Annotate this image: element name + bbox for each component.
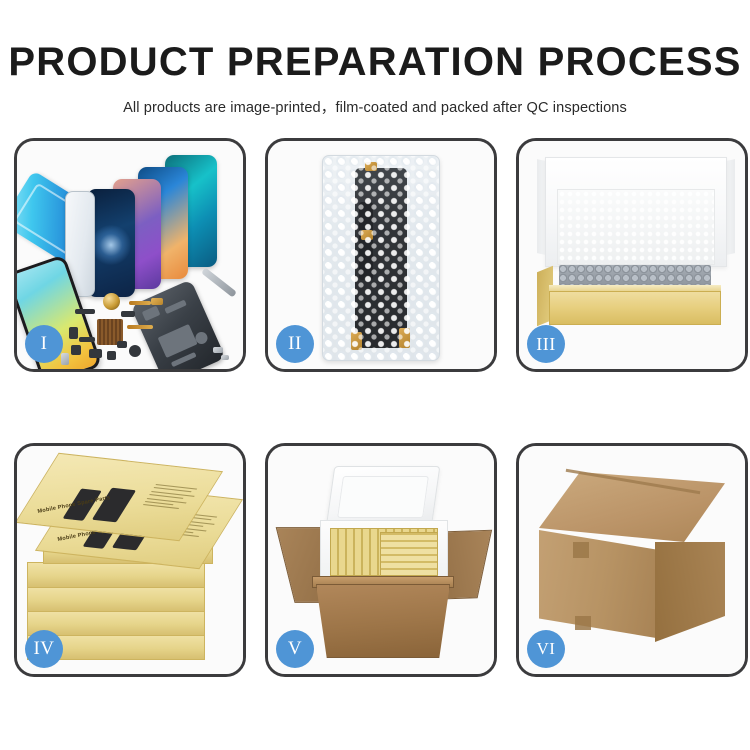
step-panel-5: V	[265, 443, 497, 677]
flex-cable-part-1	[129, 301, 151, 305]
step-badge-5: V	[276, 630, 314, 668]
step-badge-1: I	[25, 325, 63, 363]
step-panel-2: II	[265, 138, 497, 372]
product-preparation-infographic: PRODUCT PREPARATION PROCESS All products…	[0, 0, 750, 750]
header: PRODUCT PREPARATION PROCESS All products…	[0, 0, 750, 117]
packing-tape-bottom	[575, 616, 591, 630]
kraft-box-front	[549, 291, 721, 325]
step-panel-1: I	[14, 138, 246, 372]
sim-tray-part	[61, 353, 69, 365]
vibrator-part	[129, 345, 141, 357]
kraft-boxes-inside-b	[380, 532, 438, 576]
stacked-box-side-3	[27, 586, 205, 612]
white-foam-sheet-icon	[557, 189, 715, 265]
outer-carton-front	[316, 584, 450, 658]
adhesive-tab-4	[399, 328, 410, 348]
step-panel-6: VI	[516, 443, 748, 677]
box-spec-lines-1	[141, 484, 201, 513]
small-part-d	[71, 345, 81, 355]
lcd-assembly-inside	[355, 168, 407, 348]
page-subtitle: All products are image-printed，film-coat…	[0, 96, 750, 117]
small-part-g	[117, 341, 127, 348]
packing-tape-top	[573, 542, 589, 558]
screw-part-1	[213, 347, 223, 353]
connector-part	[151, 298, 163, 305]
small-part-a	[121, 311, 135, 317]
adhesive-tab-1	[365, 162, 377, 171]
step-badge-3: III	[527, 325, 565, 363]
page-title: PRODUCT PREPARATION PROCESS	[0, 42, 750, 82]
step-badge-4: IV	[25, 630, 63, 668]
step-badge-6: VI	[527, 630, 565, 668]
step-panel-4: Mobile Phone Spare Parts Mobile Phone Sp…	[14, 443, 246, 677]
foam-lid-icon	[326, 466, 441, 528]
bubble-wrap-sleeve-icon	[322, 155, 440, 361]
sealed-carton-side	[655, 542, 725, 642]
small-part-e	[89, 349, 102, 358]
camera-lens-part	[103, 293, 120, 310]
flex-cable-part-2	[127, 325, 153, 329]
tweezers-icon	[201, 267, 237, 297]
small-part-f	[107, 351, 116, 360]
small-part-c	[79, 337, 95, 342]
step-badge-2: II	[276, 325, 314, 363]
adhesive-tab-3	[351, 332, 362, 350]
small-part-b	[69, 327, 78, 339]
speaker-part	[75, 309, 95, 314]
screw-part-2	[221, 355, 229, 360]
adhesive-tab-2	[361, 230, 373, 240]
steps-grid: I II	[0, 138, 750, 690]
step-panel-3: III	[516, 138, 748, 372]
sealed-carton-front	[539, 530, 656, 638]
